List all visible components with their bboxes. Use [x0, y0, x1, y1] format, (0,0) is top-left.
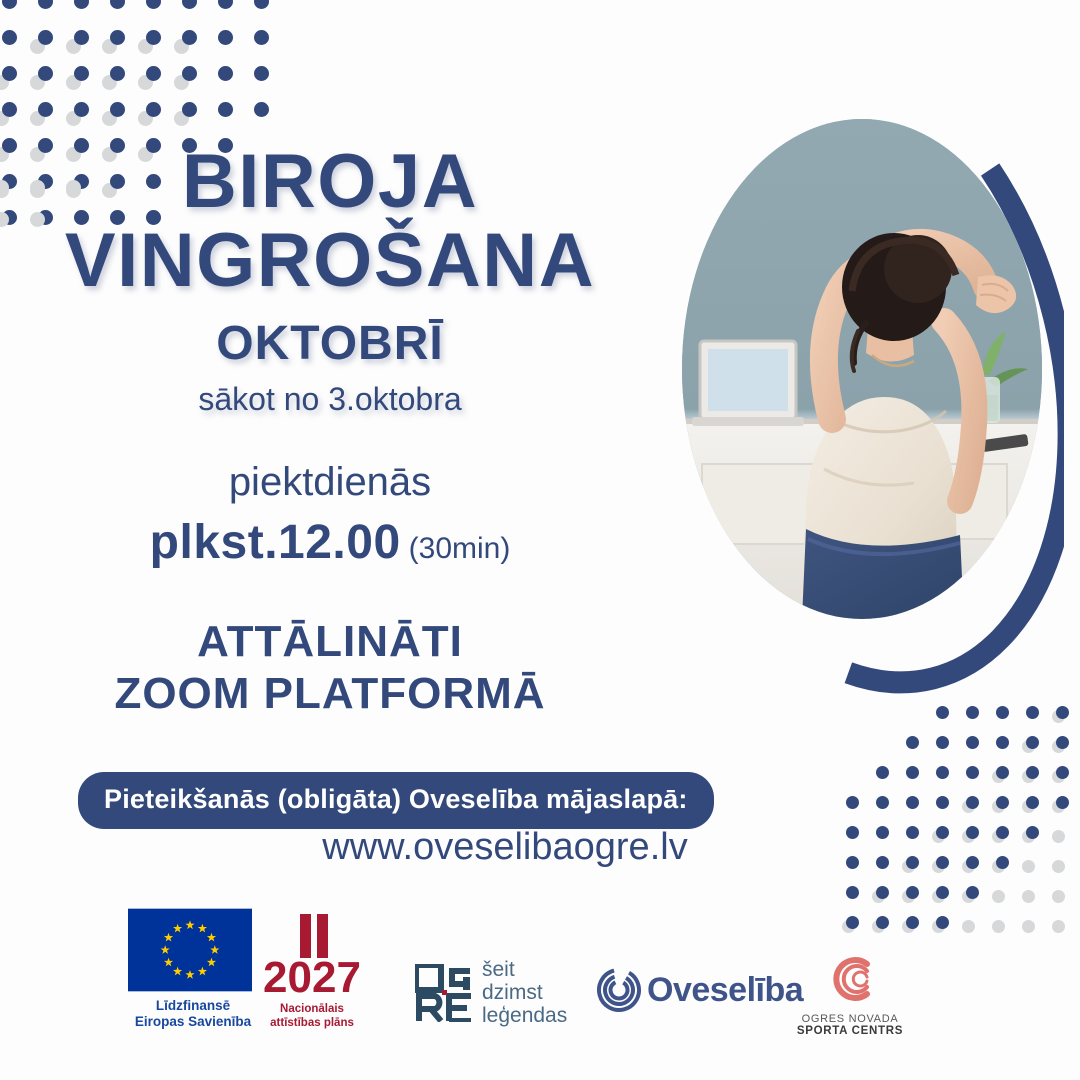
decorative-dot [1056, 796, 1069, 809]
decorative-dot [254, 102, 269, 117]
decorative-dot [846, 826, 859, 839]
sports-centre-c-icon [823, 952, 877, 1006]
decorative-dot [110, 0, 125, 9]
decorative-dot [966, 886, 979, 899]
svg-text:2027: 2027 [263, 953, 361, 996]
ogre-municipality-logo: šeit dzimst leģendas [415, 958, 567, 1027]
decorative-dot [182, 0, 197, 9]
start-date-note: sākot no 3.oktobra [0, 381, 660, 418]
european-union-flag-icon [128, 908, 252, 992]
decorative-dot [38, 102, 53, 117]
decorative-dot [966, 826, 979, 839]
partner-logo-strip: Līdzfinansē Eiropas Savienība 2027 Nacio… [0, 900, 1080, 1050]
decorative-dot [254, 66, 269, 81]
decorative-dot [74, 66, 89, 81]
decorative-dot [2, 66, 17, 81]
decorative-dot [110, 30, 125, 45]
decorative-dot [110, 66, 125, 81]
decorative-dot [1026, 766, 1039, 779]
eu-caption-line-1: Līdzfinansē [128, 998, 258, 1014]
decorative-dot [1022, 860, 1035, 873]
decorative-dot [966, 736, 979, 749]
mode-label-platform: ZOOM PLATFORMĀ [0, 668, 660, 720]
decorative-dot [906, 856, 919, 869]
oveseliba-wordmark: Oveselība [647, 971, 803, 1010]
time-row: plkst.12.00(30min) [0, 519, 660, 567]
poster-canvas: BIROJA VINGROŠANA OKTOBRĪ sākot no 3.okt… [0, 0, 1080, 1080]
decorative-dot [38, 66, 53, 81]
decorative-dot [1056, 736, 1069, 749]
month-label: OKTOBRĪ [0, 316, 660, 371]
duration-label: (30min) [409, 532, 511, 565]
decorative-dot [218, 0, 233, 9]
decorative-dot [906, 886, 919, 899]
decorative-dot [146, 102, 161, 117]
decorative-dot [1056, 706, 1069, 719]
decorative-dot [182, 102, 197, 117]
nap-caption-line-1: Nacionālais [258, 1003, 366, 1017]
decorative-dot [936, 856, 949, 869]
decorative-dot [146, 30, 161, 45]
decorative-dot [218, 66, 233, 81]
nap-2027-logo: 2027 Nacionālais attīstības plāns [258, 912, 366, 1031]
decorative-dot [846, 856, 859, 869]
delivery-mode-block: ATTĀLINĀTI ZOOM PLATFORMĀ [0, 616, 660, 720]
nap-2027-mark-icon: 2027 [260, 912, 364, 996]
decorative-dot [74, 30, 89, 45]
decorative-dot [38, 0, 53, 9]
decorative-dot [38, 30, 53, 45]
nap-logo-caption: Nacionālais attīstības plāns [258, 1003, 366, 1031]
decorative-dot [110, 102, 125, 117]
decorative-dot [254, 30, 269, 45]
decorative-dot [876, 886, 889, 899]
decorative-dot [966, 706, 979, 719]
decorative-dot [846, 886, 859, 899]
decorative-dot [182, 30, 197, 45]
decorative-dot [1052, 830, 1065, 843]
eu-logo-caption: Līdzfinansē Eiropas Savienība [128, 998, 258, 1031]
decorative-dot [966, 796, 979, 809]
decorative-dot [2, 0, 17, 9]
mode-label-remote: ATTĀLINĀTI [0, 616, 660, 668]
oveseliba-logo: Oveselība [595, 966, 803, 1014]
ogre-square-mark-icon [415, 964, 473, 1022]
sports-centre-logo: OGRES NOVADA SPORTA CENTRS [790, 952, 910, 1037]
sports-caption-line-1: OGRES NOVADA [790, 1013, 910, 1025]
decorative-dot [906, 796, 919, 809]
decorative-dot [876, 766, 889, 779]
time-value: plkst.12.00 [150, 516, 401, 569]
decorative-dot [996, 766, 1009, 779]
decorative-dot [254, 0, 269, 9]
weekday-label: piektdienās [0, 460, 660, 505]
decorative-dot [1056, 766, 1069, 779]
decorative-dot [936, 706, 949, 719]
decorative-dot [146, 0, 161, 9]
eu-caption-line-2: Eiropas Savienība [128, 1014, 258, 1030]
decorative-dot [74, 0, 89, 9]
decorative-dot [74, 102, 89, 117]
decorative-dot [1026, 796, 1039, 809]
decorative-dot [966, 856, 979, 869]
decorative-dot [218, 102, 233, 117]
decorative-dot [846, 796, 859, 809]
decorative-dot [876, 796, 889, 809]
decorative-dot [906, 736, 919, 749]
decorative-dot [1026, 706, 1039, 719]
decorative-dot [876, 856, 889, 869]
decorative-dot [906, 826, 919, 839]
decorative-dot [1026, 826, 1039, 839]
decorative-dot [996, 706, 1009, 719]
decorative-dot [146, 66, 161, 81]
decorative-dot [182, 66, 197, 81]
decorative-dot [1026, 736, 1039, 749]
decorative-dot [1052, 860, 1065, 873]
page-title-line-2: VINGROŠANA [0, 225, 660, 298]
stretching-woman-illustration [682, 119, 1042, 619]
decorative-dot [876, 826, 889, 839]
decorative-dot [906, 766, 919, 779]
schedule-block: piektdienās plkst.12.00(30min) [0, 460, 660, 567]
oveseliba-rings-icon [595, 966, 643, 1014]
decorative-dot [936, 886, 949, 899]
headline-block: BIROJA VINGROŠANA OKTOBRĪ sākot no 3.okt… [0, 146, 660, 418]
ogre-tagline: šeit dzimst leģendas [482, 958, 567, 1027]
decorative-dot [966, 766, 979, 779]
decorative-dot [936, 736, 949, 749]
hero-photo [682, 119, 1042, 619]
nap-caption-line-2: attīstības plāns [258, 1017, 366, 1031]
decorative-dot [936, 826, 949, 839]
hero-photo-group [646, 36, 1064, 696]
sports-caption-line-2: SPORTA CENTRS [790, 1025, 910, 1037]
decorative-dot [936, 796, 949, 809]
decorative-dot [218, 30, 233, 45]
decorative-dot [936, 766, 949, 779]
decorative-dot [996, 796, 1009, 809]
decorative-dot [996, 856, 1009, 869]
eu-logo: Līdzfinansē Eiropas Savienība [128, 908, 258, 1031]
decorative-dot [996, 826, 1009, 839]
decorative-dot [996, 736, 1009, 749]
page-title-line-1: BIROJA [0, 146, 660, 219]
decorative-dot [2, 30, 17, 45]
decorative-dot [2, 102, 17, 117]
registration-banner: Pieteikšanās (obligāta) Oveselība mājasl… [78, 772, 714, 829]
